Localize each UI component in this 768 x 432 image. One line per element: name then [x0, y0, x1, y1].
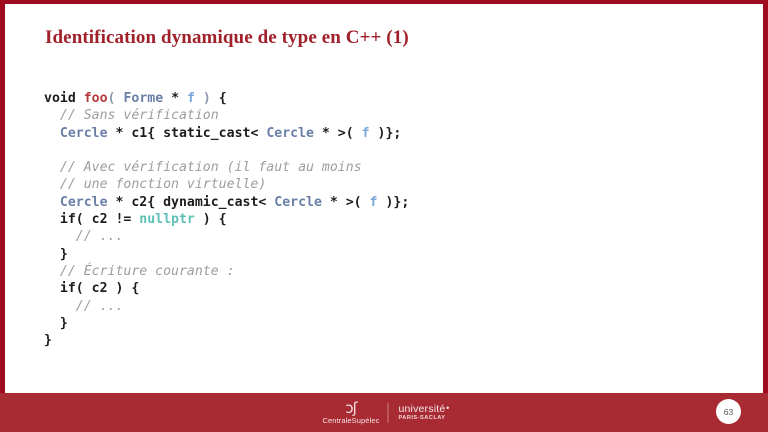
universite-paris-saclay-logo: université • PARIS-SACLAY — [396, 403, 445, 421]
code-token-plain: * — [163, 91, 187, 106]
code-token-comment: // ... — [44, 229, 123, 244]
slide-border-left — [0, 0, 5, 432]
universite-wordmark-line1: université • — [398, 403, 445, 414]
code-token-plain: ) { — [195, 212, 227, 227]
code-line: // ... — [44, 228, 409, 245]
code-token-const: nullptr — [139, 212, 195, 227]
code-token-plain: } — [44, 333, 52, 348]
code-token-type: Cercle — [266, 126, 314, 141]
code-line — [44, 142, 409, 159]
code-token-comment: // une fonction virtuelle) — [44, 177, 266, 192]
code-token-type: Forme — [123, 91, 163, 106]
code-token-plain: )}; — [378, 195, 410, 210]
code-token-plain: * >( — [322, 195, 370, 210]
centralesupelec-logo: ↄʃ CentraleSupélec — [323, 401, 380, 424]
code-line: void foo( Forme * f ) { — [44, 90, 409, 107]
code-token-plain — [44, 126, 60, 141]
code-token-plain: } — [44, 247, 68, 262]
code-line: // ... — [44, 298, 409, 315]
code-block: void foo( Forme * f ) { // Sans vérifica… — [44, 90, 409, 349]
code-line: // Écriture courante : — [44, 263, 409, 280]
code-token-comment: // ... — [44, 299, 123, 314]
code-line: if( c2 != nullptr ) { — [44, 211, 409, 228]
code-token-plain — [195, 91, 203, 106]
footer-band: ↄʃ CentraleSupélec université • PARIS-SA… — [0, 393, 768, 432]
code-token-plain: * >( — [314, 126, 362, 141]
page-title: Identification dynamique de type en C++ … — [45, 27, 409, 49]
code-token-comment: // Écriture courante : — [44, 264, 235, 279]
code-token-plain: if( c2 != — [44, 212, 139, 227]
code-token-plain: } — [44, 316, 68, 331]
code-line: if( c2 ) { — [44, 280, 409, 297]
code-token-var: f — [187, 91, 195, 106]
code-line: // Avec vérification (il faut au moins — [44, 159, 409, 176]
code-token-kw: void — [44, 91, 84, 106]
centralesupelec-wordmark: CentraleSupélec — [323, 416, 380, 424]
presentation-slide: Identification dynamique de type en C++ … — [0, 0, 768, 432]
universite-dot-icon: • — [446, 403, 449, 412]
code-token-comment: // Sans vérification — [44, 108, 219, 123]
code-line: } — [44, 315, 409, 332]
code-token-plain: { — [211, 91, 227, 106]
code-token-var: f — [370, 195, 378, 210]
page-number-badge: 63 — [716, 399, 741, 424]
code-token-plain: )}; — [370, 126, 402, 141]
code-token-type: Cercle — [60, 126, 108, 141]
footer-logos: ↄʃ CentraleSupélec université • PARIS-SA… — [323, 401, 446, 424]
code-token-plain: if( c2 ) { — [44, 281, 139, 296]
slide-border-top — [0, 0, 768, 4]
page-number-label: 63 — [724, 407, 733, 417]
centralesupelec-mark-icon: ↄʃ — [345, 401, 356, 414]
code-token-punct: ) — [203, 91, 211, 106]
universite-wordmark-line2: PARIS-SACLAY — [398, 416, 445, 422]
code-token-plain: * c2{ dynamic_cast< — [108, 195, 275, 210]
code-token-type: Cercle — [274, 195, 322, 210]
code-token-var: f — [362, 126, 370, 141]
code-line: } — [44, 332, 409, 349]
code-token-plain: * c1{ static_cast< — [108, 126, 267, 141]
logo-divider — [387, 403, 388, 423]
code-token-fn: foo — [84, 91, 108, 106]
code-line: Cercle * c2{ dynamic_cast< Cercle * >( f… — [44, 194, 409, 211]
code-token-type: Cercle — [60, 195, 108, 210]
code-token-plain — [44, 195, 60, 210]
code-line: } — [44, 246, 409, 263]
code-token-comment: // Avec vérification (il faut au moins — [44, 160, 362, 175]
code-line: Cercle * c1{ static_cast< Cercle * >( f … — [44, 125, 409, 142]
slide-border-right — [763, 0, 768, 432]
code-line: // Sans vérification — [44, 107, 409, 124]
code-line: // une fonction virtuelle) — [44, 176, 409, 193]
universite-wordmark-text: université — [398, 402, 445, 414]
